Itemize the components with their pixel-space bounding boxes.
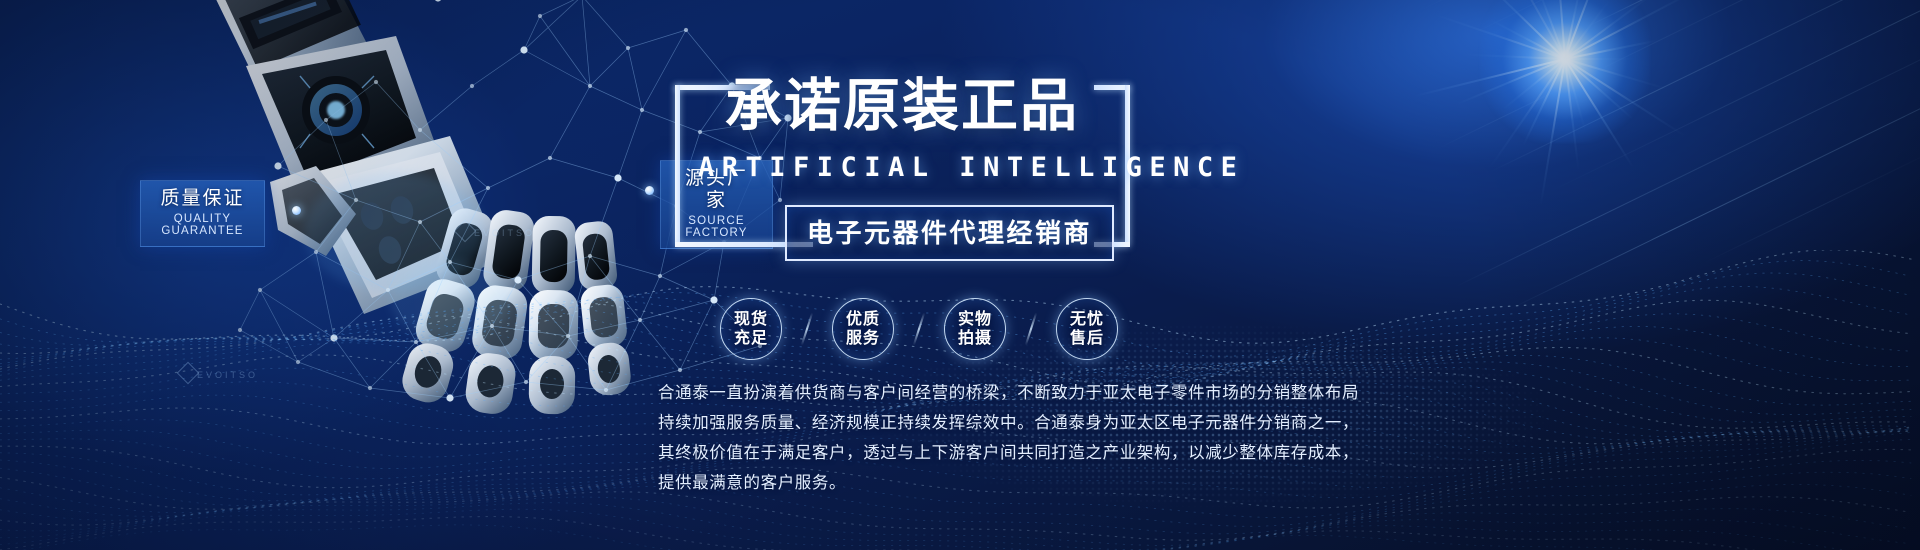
- watermark-logo: EVOITSO: [474, 228, 535, 238]
- tag-quality-cn: 质量保证: [155, 188, 250, 210]
- badge-separator: [1025, 313, 1037, 346]
- feature-badge: 现货充足: [720, 298, 782, 360]
- business-scope-badge: 电子元器件代理经销商: [785, 205, 1114, 261]
- feature-badge: 无忧售后: [1056, 298, 1118, 360]
- ai-electronics-promo-banner: 质量保证 QUALITY GUARANTEE 源头厂家 SOURCE FACTO…: [0, 0, 1920, 550]
- bracket-left-vertical: [675, 85, 680, 242]
- feature-badge-line1: 无忧: [1070, 310, 1104, 329]
- feature-badge-line1: 优质: [846, 310, 880, 329]
- headline-content-block: 承诺原装正品 ARTIFICIAL INTELLIGENCE 电子元器件代理经销…: [640, 0, 1760, 550]
- watermark-logo: EVOITSO: [197, 370, 258, 380]
- watermark-text: EVOITSO: [474, 228, 535, 238]
- business-scope-label: 电子元器件代理经销商: [807, 219, 1092, 249]
- watermark-text: EVOITSO: [197, 370, 258, 380]
- feature-badge-line1: 现货: [734, 310, 768, 329]
- description-line-1: 合通泰一直扮演着供货商与客户间经营的桥梁，不断致力于亚太电子零件市场的分销整体布…: [658, 378, 1338, 408]
- feature-badge: 实物拍摄: [944, 298, 1006, 360]
- feature-badge-line2: 充足: [734, 329, 768, 348]
- subtitle-english: ARTIFICIAL INTELLIGENCE: [698, 152, 1244, 183]
- feature-badge-line2: 服务: [846, 329, 880, 348]
- badge-separator: [913, 313, 925, 346]
- description-line-3: 其终极价值在于满足客户，透过与上下游客户间共同打造之产业架构，以减少整体库存成本…: [658, 438, 1338, 468]
- page-title: 承诺原装正品: [725, 78, 1079, 135]
- company-description: 合通泰一直扮演着供货商与客户间经营的桥梁，不断致力于亚太电子零件市场的分销整体布…: [658, 378, 1338, 498]
- feature-badge: 优质服务: [832, 298, 894, 360]
- feature-badge-row: 现货充足优质服务实物拍摄无忧售后: [720, 298, 1140, 378]
- description-line-4: 提供最满意的客户服务。: [658, 468, 1338, 498]
- description-line-2: 持续加强服务质量、经济规模正持续发挥综效中。合通泰身为亚太区电子元器件分销商之一…: [658, 408, 1338, 438]
- network-node-dot: [292, 206, 301, 215]
- badge-separator: [801, 313, 813, 346]
- feature-badge-line2: 拍摄: [958, 329, 992, 348]
- tag-quality-guarantee: 质量保证 QUALITY GUARANTEE: [140, 180, 265, 247]
- feature-badge-line2: 售后: [1070, 329, 1104, 348]
- tag-quality-en: QUALITY GUARANTEE: [155, 213, 250, 237]
- feature-badge-line1: 实物: [958, 310, 992, 329]
